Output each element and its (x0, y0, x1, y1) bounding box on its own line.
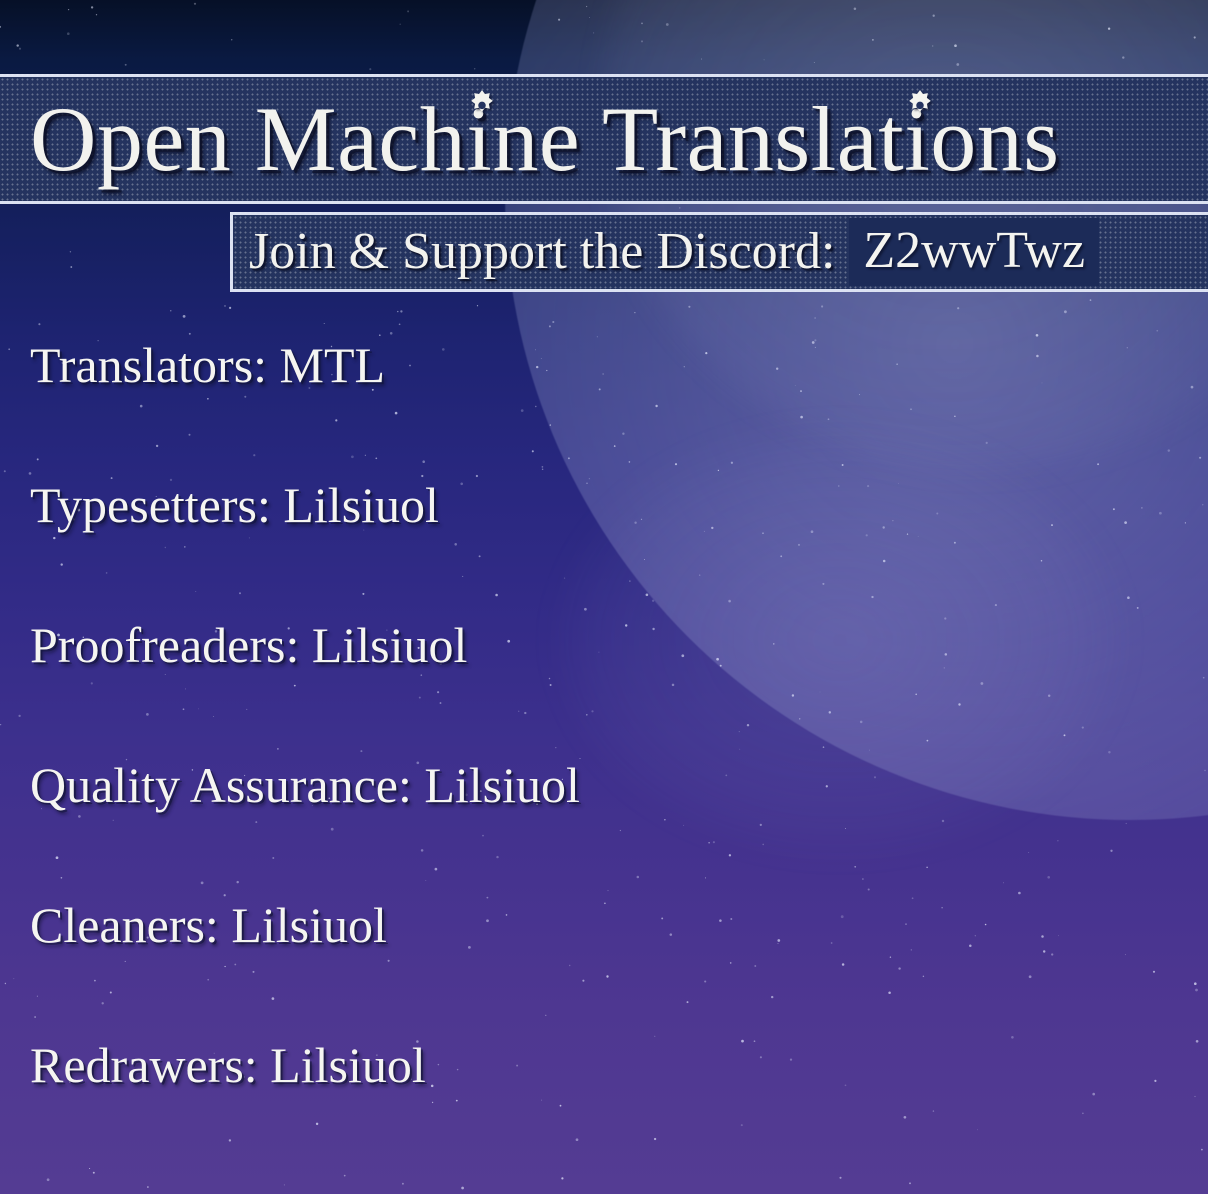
credit-line-proofreaders: Proofreaders: Lilsiuol (30, 620, 1130, 670)
page-title: Open Machine Translations (30, 93, 1060, 185)
title-segment-3: ons (930, 88, 1059, 190)
discord-invite-code[interactable]: Z2wwTwz (849, 218, 1099, 286)
discord-prompt: Join & Support the Discord: (249, 226, 835, 278)
credit-line-translators: Translators: MTL (30, 340, 1130, 390)
credit-line-typesetters: Typesetters: Lilsiuol (30, 480, 1130, 530)
title-banner: Open Machine Translations (0, 74, 1208, 204)
title-segment-2: ne Translat (492, 88, 904, 190)
title-segment-1: Open Mach (30, 88, 466, 190)
discord-banner[interactable]: Join & Support the Discord: Z2wwTwz (230, 212, 1208, 292)
credit-line-redrawers: Redrawers: Lilsiuol (30, 1040, 1130, 1090)
credits-list: Translators: MTL Typesetters: Lilsiuol P… (30, 340, 1130, 1090)
credit-line-cleaners: Cleaners: Lilsiuol (30, 900, 1130, 950)
credit-line-quality-assurance: Quality Assurance: Lilsiuol (30, 760, 1130, 810)
credits-page: Open Machine Translations Join & Support… (0, 0, 1208, 1194)
